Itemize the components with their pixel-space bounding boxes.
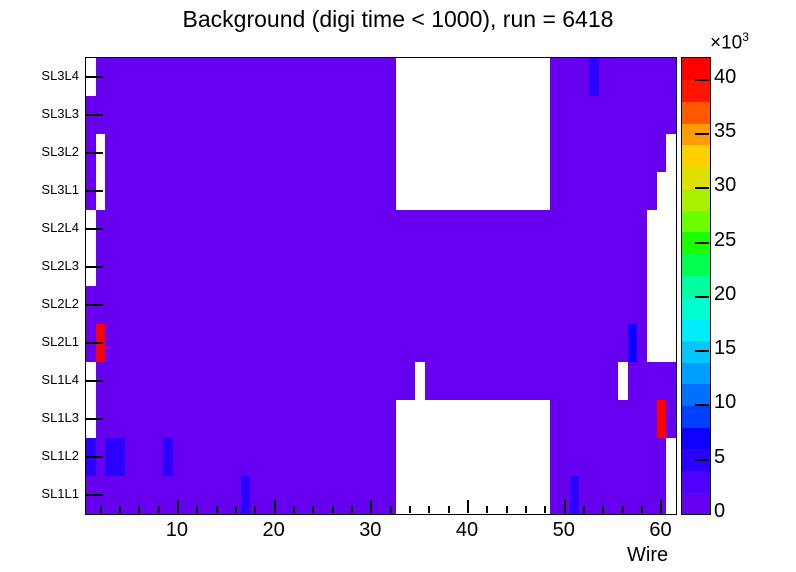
x-axis-minor-tick bbox=[351, 506, 353, 513]
heatmap-cell bbox=[250, 476, 395, 515]
x-axis-major-tick bbox=[370, 500, 372, 513]
x-axis-minor-tick bbox=[312, 506, 314, 513]
x-axis-minor-tick bbox=[602, 506, 604, 513]
x-axis-minor-tick bbox=[235, 506, 237, 513]
heatmap-cell bbox=[425, 362, 618, 401]
color-scale-band bbox=[682, 362, 710, 384]
heatmap-cell bbox=[96, 58, 396, 97]
y-axis-tick bbox=[85, 342, 103, 344]
y-axis-tick-label: SL3L1 bbox=[23, 182, 79, 197]
heatmap-cell bbox=[647, 286, 676, 325]
heatmap-cell bbox=[415, 362, 425, 401]
y-axis-tick bbox=[85, 304, 103, 306]
y-axis-tick bbox=[85, 456, 103, 458]
color-scale-tick-label: 10 bbox=[714, 391, 736, 414]
x-axis-minor-tick bbox=[486, 506, 488, 513]
heatmap-cell bbox=[618, 362, 628, 401]
page-title: Background (digi time < 1000), run = 641… bbox=[0, 6, 796, 33]
heatmap-cell bbox=[96, 210, 647, 249]
x-axis-minor-tick bbox=[428, 506, 430, 513]
x-axis-tick-label: 20 bbox=[249, 519, 299, 542]
heatmap-plot-area[interactable] bbox=[85, 57, 677, 515]
heatmap-cell bbox=[550, 58, 589, 97]
color-scale-tick-label: 25 bbox=[714, 229, 736, 252]
y-axis-tick bbox=[85, 266, 103, 268]
y-axis-tick bbox=[85, 380, 103, 382]
heatmap-cell bbox=[657, 172, 676, 211]
y-axis-tick bbox=[85, 114, 103, 116]
heatmap-cell bbox=[396, 134, 551, 173]
color-scale-band bbox=[682, 297, 710, 319]
color-scale-tick-label: 40 bbox=[714, 66, 736, 89]
y-axis-tick bbox=[85, 494, 103, 496]
x-axis-minor-tick bbox=[525, 506, 527, 513]
y-axis-tick-label: SL2L2 bbox=[23, 296, 79, 311]
heatmap-cell bbox=[105, 324, 627, 363]
x-axis-major-tick bbox=[660, 500, 662, 513]
y-axis-tick-label: SL2L4 bbox=[23, 220, 79, 235]
x-axis-major-tick bbox=[467, 500, 469, 513]
x-axis-minor-tick bbox=[332, 506, 334, 513]
color-scale-band bbox=[682, 492, 710, 514]
x-axis-minor-tick bbox=[506, 506, 508, 513]
color-scale-band bbox=[682, 275, 710, 297]
y-axis-tick bbox=[85, 76, 103, 78]
heatmap-cell bbox=[105, 438, 124, 477]
heatmap-cell bbox=[570, 476, 580, 515]
color-scale-tick-label: 30 bbox=[714, 174, 736, 197]
heatmap-cell bbox=[96, 362, 415, 401]
color-scale-tick bbox=[695, 296, 709, 298]
color-scale-band bbox=[682, 210, 710, 232]
heatmap-cell bbox=[396, 438, 551, 477]
x-axis-minor-tick bbox=[544, 506, 546, 513]
y-axis-tick-label: SL3L2 bbox=[23, 144, 79, 159]
x-axis-minor-tick bbox=[138, 506, 140, 513]
heatmap-cell bbox=[637, 324, 647, 363]
heatmap-cell bbox=[105, 172, 395, 211]
x-axis-minor-tick bbox=[448, 506, 450, 513]
x-axis-minor-tick bbox=[216, 506, 218, 513]
x-axis-tick-label: 40 bbox=[442, 519, 492, 542]
heatmap-cell bbox=[550, 172, 656, 211]
color-scale-band bbox=[682, 58, 710, 80]
heatmap-cell bbox=[647, 324, 676, 363]
x-axis-tick-label: 10 bbox=[152, 519, 202, 542]
color-scale-band bbox=[682, 145, 710, 167]
color-scale-band bbox=[682, 405, 710, 427]
heatmap-cell bbox=[657, 400, 667, 439]
color-scale-tick-label: 15 bbox=[714, 337, 736, 360]
heatmap-cell bbox=[599, 58, 676, 97]
heatmap-cell bbox=[96, 400, 396, 439]
heatmap-cell bbox=[173, 438, 395, 477]
heatmap-cell bbox=[628, 362, 676, 401]
heatmap-cell bbox=[647, 210, 676, 249]
x-axis-minor-tick bbox=[254, 506, 256, 513]
color-scale-band bbox=[682, 384, 710, 406]
x-axis-minor-tick bbox=[158, 506, 160, 513]
x-axis-title: Wire bbox=[627, 544, 668, 567]
color-scale-tick bbox=[695, 404, 709, 406]
heatmap-cell bbox=[163, 438, 173, 477]
color-scale-tick-label: 0 bbox=[714, 500, 725, 523]
color-scale-tick bbox=[695, 187, 709, 189]
x-axis-minor-tick bbox=[293, 506, 295, 513]
x-axis-major-tick bbox=[177, 500, 179, 513]
color-scale-band bbox=[682, 253, 710, 275]
heatmap-cell bbox=[550, 96, 676, 135]
x-axis-tick-label: 30 bbox=[345, 519, 395, 542]
x-axis-major-tick bbox=[564, 500, 566, 513]
heatmap-cell bbox=[550, 134, 666, 173]
heatmap-cell bbox=[396, 58, 551, 97]
color-scale-tick-label: 35 bbox=[714, 120, 736, 143]
y-axis-tick bbox=[85, 152, 103, 154]
color-scale-multiplier-text: ×10 bbox=[710, 32, 742, 53]
color-scale-band bbox=[682, 188, 710, 210]
color-scale-bar[interactable] bbox=[681, 57, 711, 515]
heatmap-cell bbox=[241, 476, 251, 515]
x-axis-minor-tick bbox=[390, 506, 392, 513]
color-scale-tick bbox=[695, 79, 709, 81]
heatmap-cell bbox=[105, 134, 395, 173]
y-axis-tick-label: SL1L3 bbox=[23, 410, 79, 425]
x-axis-major-tick bbox=[274, 500, 276, 513]
x-axis-minor-tick bbox=[119, 506, 121, 513]
color-scale-multiplier: ×103 bbox=[710, 30, 749, 54]
heatmap-cell bbox=[125, 438, 164, 477]
heatmap-cell bbox=[647, 248, 676, 287]
heatmap-cell bbox=[550, 476, 569, 515]
y-axis-tick-label: SL1L4 bbox=[23, 372, 79, 387]
y-axis-tick-label: SL3L4 bbox=[23, 68, 79, 83]
x-axis-minor-tick bbox=[583, 506, 585, 513]
heatmap-cell bbox=[666, 134, 676, 173]
heatmap-cell bbox=[628, 324, 638, 363]
y-axis-tick-label: SL1L1 bbox=[23, 486, 79, 501]
color-scale-tick bbox=[695, 133, 709, 135]
x-axis-tick-label: 60 bbox=[635, 519, 685, 542]
y-axis-tick-label: SL2L1 bbox=[23, 334, 79, 349]
x-axis-minor-tick bbox=[196, 506, 198, 513]
x-axis-minor-tick bbox=[100, 506, 102, 513]
color-scale-exponent-text: 3 bbox=[742, 30, 749, 44]
color-scale-tick-label: 20 bbox=[714, 283, 736, 306]
y-axis-tick bbox=[85, 190, 103, 192]
y-axis-tick-label: SL2L3 bbox=[23, 258, 79, 273]
x-axis-tick-label: 50 bbox=[539, 519, 589, 542]
color-scale-band bbox=[682, 319, 710, 341]
color-scale-tick-label: 5 bbox=[714, 446, 725, 469]
color-scale-band bbox=[682, 167, 710, 189]
root-canvas: Background (digi time < 1000), run = 641… bbox=[0, 0, 796, 572]
heatmap-cells bbox=[86, 58, 676, 514]
color-scale-band bbox=[682, 471, 710, 493]
color-scale-band bbox=[682, 101, 710, 123]
x-axis-minor-tick bbox=[641, 506, 643, 513]
heatmap-cell bbox=[396, 400, 551, 439]
heatmap-cell bbox=[396, 96, 551, 135]
color-scale-tick bbox=[695, 459, 709, 461]
y-axis-tick bbox=[85, 418, 103, 420]
x-axis-minor-tick bbox=[622, 506, 624, 513]
x-axis-minor-tick bbox=[409, 506, 411, 513]
heatmap-cell bbox=[396, 172, 551, 211]
heatmap-cell bbox=[666, 400, 676, 439]
heatmap-cell bbox=[96, 248, 647, 287]
y-axis-tick bbox=[85, 228, 103, 230]
color-scale-band bbox=[682, 80, 710, 102]
heatmap-cell bbox=[86, 96, 396, 135]
heatmap-cell bbox=[666, 438, 676, 477]
heatmap-cell bbox=[86, 286, 647, 325]
heatmap-cell bbox=[666, 476, 676, 515]
y-axis-tick-label: SL1L2 bbox=[23, 448, 79, 463]
y-axis-tick-label: SL3L3 bbox=[23, 106, 79, 121]
color-scale-tick bbox=[695, 350, 709, 352]
color-scale-tick bbox=[695, 242, 709, 244]
heatmap-cell bbox=[550, 438, 666, 477]
heatmap-cell bbox=[550, 400, 656, 439]
color-scale-band bbox=[682, 427, 710, 449]
heatmap-cell bbox=[589, 58, 599, 97]
